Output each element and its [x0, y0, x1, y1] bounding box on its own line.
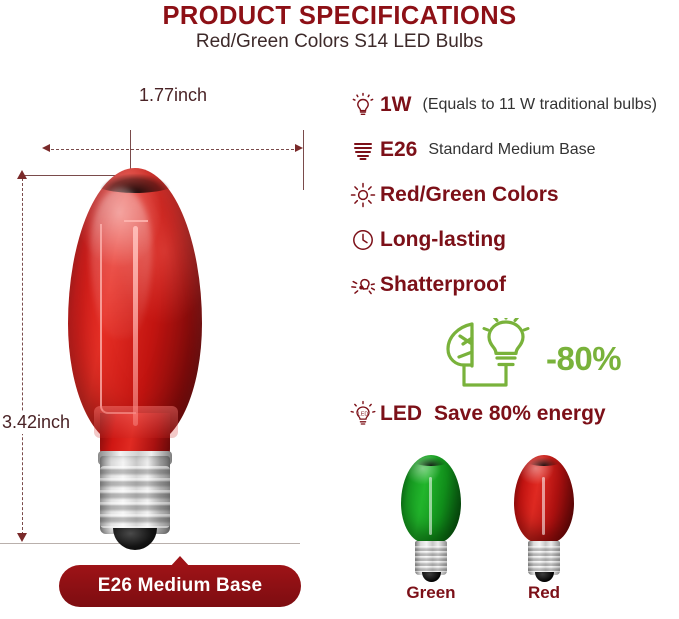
- green-bulb-top-shade: [411, 453, 451, 466]
- spec-key-base: E26: [380, 138, 417, 162]
- green-bulb-filament: [429, 477, 432, 535]
- spec-key-lifetime: Long-lasting: [380, 228, 506, 252]
- spec-value-wattage: (Equals to 11 W traditional bulbs): [423, 96, 657, 114]
- bulb-filament-top: [124, 220, 148, 222]
- green-bulb-base-tip: [422, 572, 441, 582]
- spec-key-colors: Red/Green Colors: [380, 183, 559, 207]
- bulb-top-shade: [88, 165, 182, 193]
- impact-bulb-icon: [346, 272, 380, 298]
- spec-value-led: Save 80% energy: [434, 402, 606, 426]
- width-dimension-label: 1.77inch: [40, 85, 306, 106]
- clock-icon: [346, 228, 380, 252]
- bulb-stem: [94, 406, 178, 438]
- spec-key-shatterproof: Shatterproof: [380, 273, 506, 297]
- base-type-badge: E26 Medium Base: [59, 565, 301, 607]
- height-dimension-line: [22, 178, 23, 540]
- color-option-label-green: Green: [398, 583, 464, 603]
- sun-burst-icon: [346, 182, 380, 208]
- spec-row-wattage: 1W (Equals to 11 W traditional bulbs): [346, 92, 657, 118]
- red-bulb-base-tip: [535, 572, 554, 582]
- spec-value-base: Standard Medium Base: [428, 141, 595, 159]
- screw-base-icon: [346, 138, 380, 162]
- energy-saving-badge: -80%: [440, 318, 621, 400]
- red-bulb-filament: [542, 477, 545, 535]
- main-bulb-image: [60, 168, 210, 563]
- spec-row-lifetime: Long-lasting: [346, 228, 506, 252]
- width-arrow-right-icon: [295, 144, 303, 152]
- bulb-rays-icon: [346, 92, 380, 118]
- bulb-base-tip: [113, 528, 157, 550]
- spec-row-led: LED LED Save 80% energy: [346, 400, 606, 428]
- bulb-filament: [133, 226, 138, 426]
- color-option-label-red: Red: [511, 583, 577, 603]
- spec-row-shatterproof: Shatterproof: [346, 272, 506, 298]
- width-tick-right: [303, 130, 304, 190]
- led-bulb-icon: LED: [346, 400, 380, 428]
- spec-key-led: LED: [380, 402, 422, 426]
- width-dimension-line: [46, 149, 299, 150]
- spec-row-base: E26 Standard Medium Base: [346, 138, 596, 162]
- bulb-screw-base: [100, 456, 170, 534]
- green-bulb-screw-base: [415, 541, 447, 575]
- red-bulb-screw-base: [528, 541, 560, 575]
- product-spec-infographic: PRODUCT SPECIFICATIONS Red/Green Colors …: [0, 0, 679, 619]
- base-type-badge-label: E26 Medium Base: [98, 575, 263, 597]
- red-bulb-top-shade: [524, 453, 564, 466]
- spec-key-wattage: 1W: [380, 93, 412, 117]
- leaf-and-bulb-icon: [440, 318, 550, 400]
- energy-saving-percent: -80%: [546, 340, 621, 378]
- width-arrow-left-icon: [42, 144, 50, 152]
- page-title: PRODUCT SPECIFICATIONS: [0, 2, 679, 31]
- svg-text:LED: LED: [358, 412, 369, 418]
- page-subtitle: Red/Green Colors S14 LED Bulbs: [0, 31, 679, 53]
- bulb-filament-support: [100, 224, 136, 414]
- height-arrow-up-icon: [17, 170, 27, 179]
- spec-row-colors: Red/Green Colors: [346, 182, 559, 208]
- height-arrow-down-icon: [17, 533, 27, 542]
